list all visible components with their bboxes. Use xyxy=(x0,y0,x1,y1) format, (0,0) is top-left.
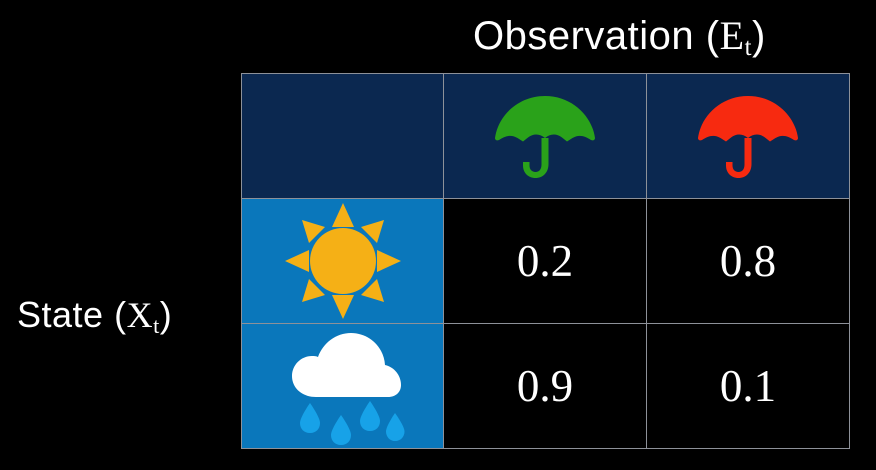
value-cell-rainy-green: 0.9 xyxy=(444,324,647,449)
header-cell-umbrella-red xyxy=(647,74,850,199)
value-cell-rainy-red: 0.1 xyxy=(647,324,850,449)
state-paren-close: ) xyxy=(160,294,173,335)
state-label-text: State xyxy=(17,294,104,335)
probability-value: 0.1 xyxy=(720,361,776,411)
probability-value: 0.2 xyxy=(517,236,573,286)
rain-cloud-icon xyxy=(242,324,443,448)
state-cell-sunny xyxy=(242,199,444,324)
table-row: 0.9 0.1 xyxy=(242,324,850,449)
emission-probability-table: 0.2 0.8 xyxy=(241,73,850,449)
observation-axis-label: Observation (Et) xyxy=(473,16,766,56)
slide-canvas: Observation (Et) State (Xt) xyxy=(0,0,876,470)
umbrella-green-icon xyxy=(444,74,646,198)
header-cell-umbrella-green xyxy=(444,74,647,199)
umbrella-red-icon xyxy=(647,74,849,198)
observation-label-text: Observation xyxy=(473,14,694,58)
state-cell-rainy xyxy=(242,324,444,449)
probability-value: 0.8 xyxy=(720,236,776,286)
observation-subscript: t xyxy=(745,34,752,61)
observation-paren-close: ) xyxy=(752,14,766,58)
observation-variable: E xyxy=(720,13,745,58)
state-variable: X xyxy=(127,295,154,335)
table-row: 0.2 0.8 xyxy=(242,199,850,324)
state-paren-open: ( xyxy=(114,294,127,335)
probability-value: 0.9 xyxy=(517,361,573,411)
state-subscript: t xyxy=(153,313,160,338)
corner-cell xyxy=(242,74,444,199)
value-cell-sunny-green: 0.2 xyxy=(444,199,647,324)
sun-icon xyxy=(242,199,443,323)
state-axis-label: State (Xt) xyxy=(17,297,172,333)
table-header-row xyxy=(242,74,850,199)
value-cell-sunny-red: 0.8 xyxy=(647,199,850,324)
observation-paren-open: ( xyxy=(706,14,720,58)
